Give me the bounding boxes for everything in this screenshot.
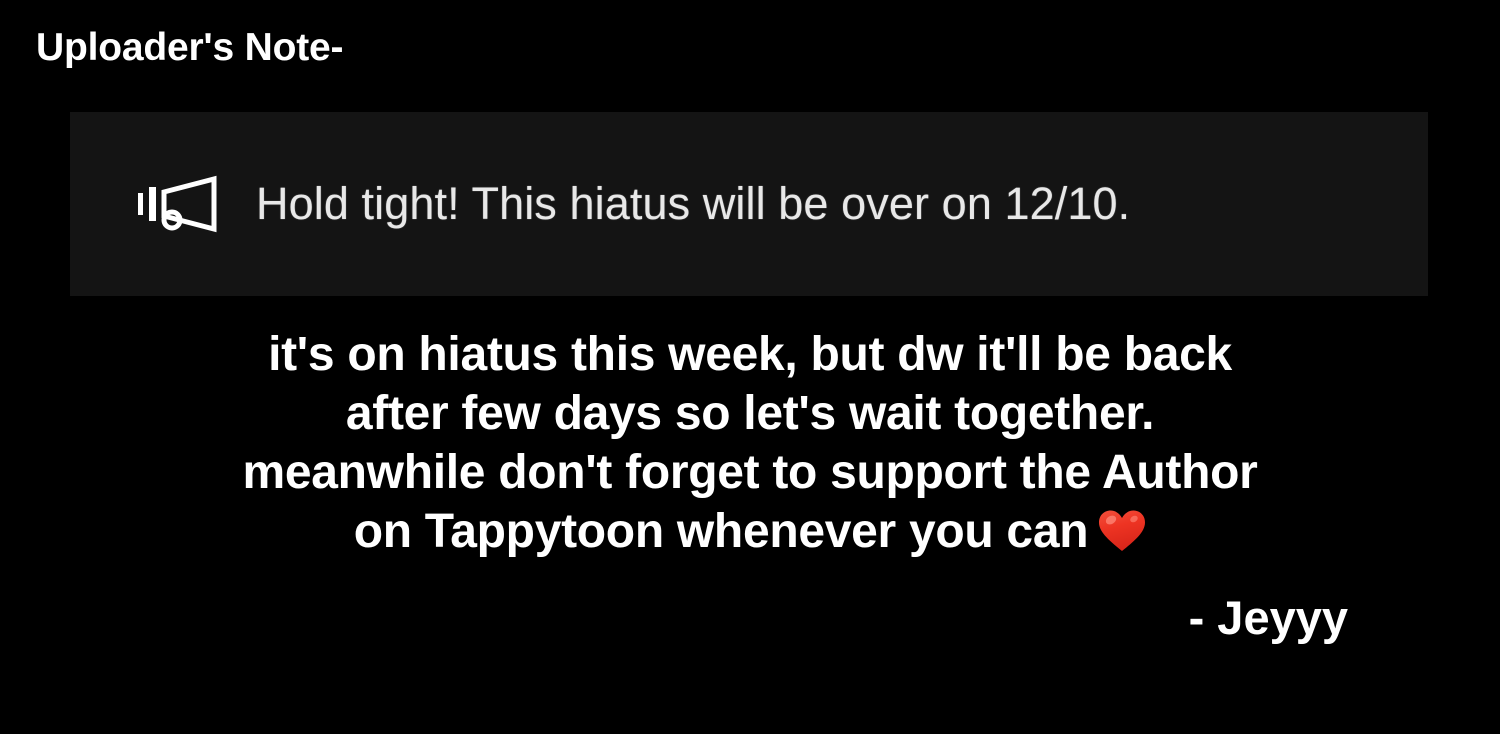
page-title: Uploader's Note- <box>36 26 343 71</box>
announcement-banner: Hold tight! This hiatus will be over on … <box>70 112 1428 296</box>
note-body-line: it's on hiatus this week, but dw it'll b… <box>50 325 1450 384</box>
megaphone-icon <box>138 175 222 233</box>
note-body: it's on hiatus this week, but dw it'll b… <box>50 325 1450 567</box>
uploader-note-image: Uploader's Note- Hold tight! This hiatus… <box>0 0 1500 734</box>
banner-message: Hold tight! This hiatus will be over on … <box>256 178 1130 230</box>
note-body-line-text: on Tappytoon whenever you can <box>354 505 1089 558</box>
note-body-line: meanwhile don't forget to support the Au… <box>50 443 1450 502</box>
note-body-line-with-emoji: on Tappytoon whenever you can <box>50 502 1450 567</box>
note-body-line: after few days so let's wait together. <box>50 384 1450 443</box>
red-heart-icon <box>1098 508 1146 567</box>
signature: - Jeyyy <box>0 590 1348 645</box>
